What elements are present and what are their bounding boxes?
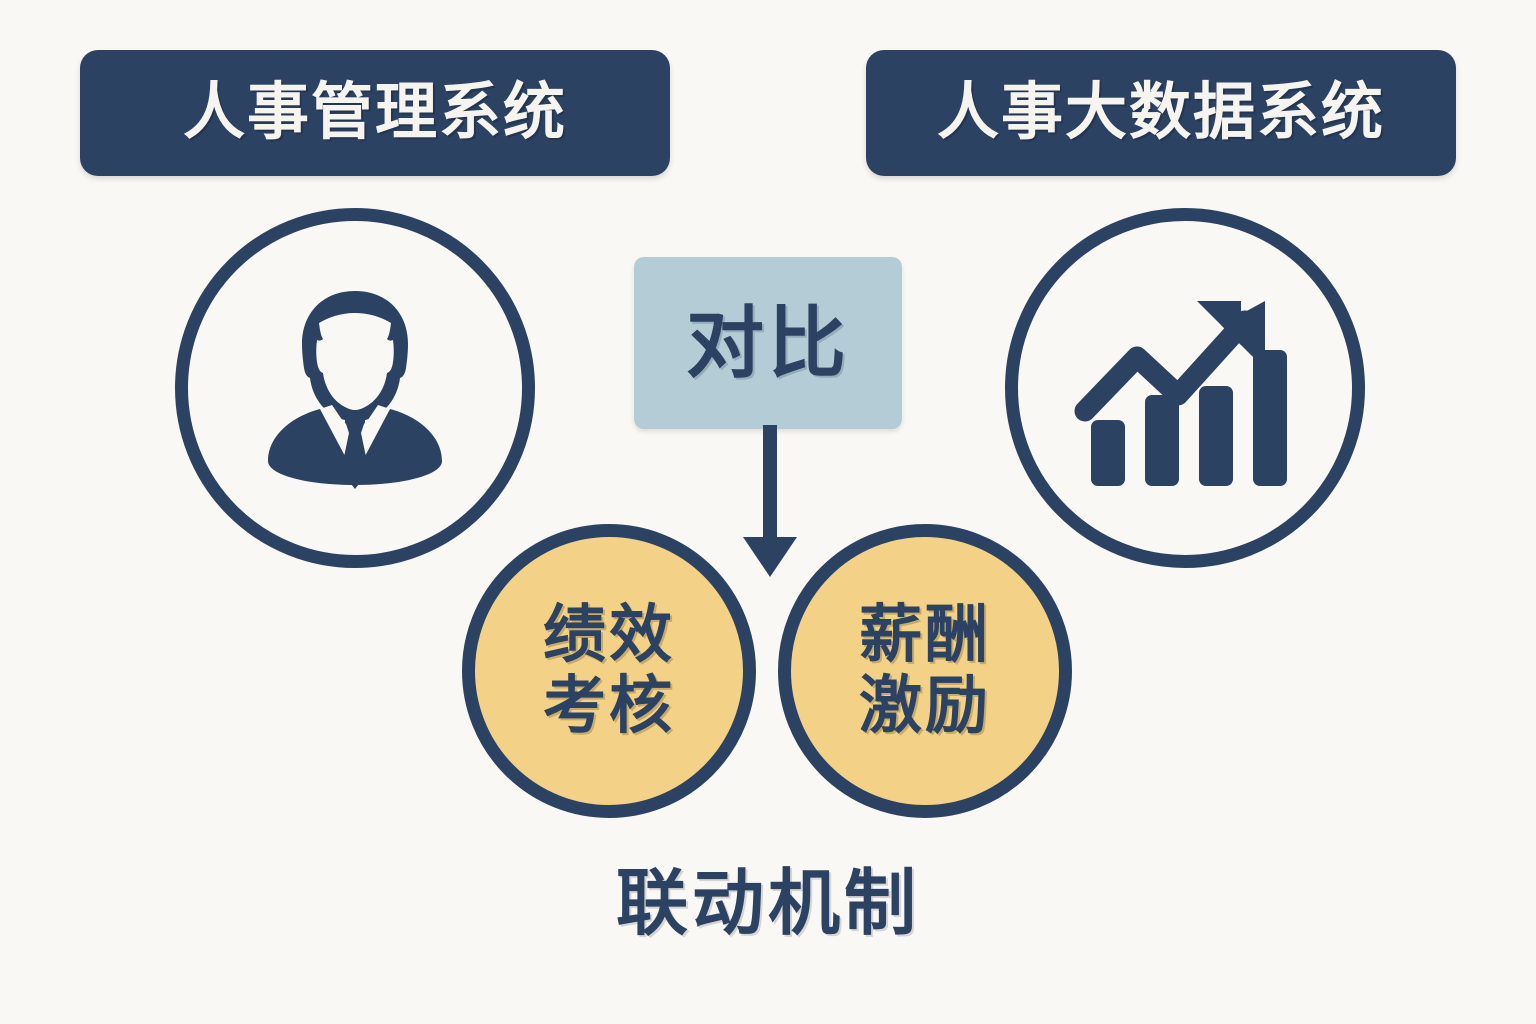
diagram-canvas: 人事管理系统 人事大数据系统 xyxy=(0,0,1536,1024)
person-icon-circle xyxy=(175,208,535,568)
banner-left-label: 人事管理系统 xyxy=(183,82,567,144)
venn-left-line-2: 考核 xyxy=(543,671,675,742)
chart-bar-4 xyxy=(1253,350,1287,486)
venn-right-line-1: 薪酬 xyxy=(859,600,991,671)
chart-bar-1 xyxy=(1091,420,1125,486)
banner-personnel-management-system: 人事管理系统 xyxy=(80,50,670,176)
compare-label-box: 对比 xyxy=(634,257,902,429)
caption-label: 联动机制 xyxy=(616,864,920,944)
venn-circle-compensation: 薪酬 激励 xyxy=(778,524,1072,818)
chart-bar-2 xyxy=(1145,395,1179,486)
chart-icon-circle xyxy=(1005,208,1365,568)
chart-bar-3 xyxy=(1199,386,1233,486)
venn-left-line-1: 绩效 xyxy=(543,600,675,671)
compare-label: 对比 xyxy=(686,304,850,382)
bottom-caption: 联动机制 xyxy=(0,868,1536,940)
venn-circle-performance: 绩效 考核 xyxy=(462,524,756,818)
venn-right-line-2: 激励 xyxy=(859,671,991,742)
growth-chart-icon xyxy=(1065,273,1305,503)
down-arrow-icon xyxy=(735,425,805,580)
businessman-icon xyxy=(240,273,470,503)
banner-personnel-bigdata-system: 人事大数据系统 xyxy=(866,50,1456,176)
banner-right-label: 人事大数据系统 xyxy=(937,82,1385,144)
